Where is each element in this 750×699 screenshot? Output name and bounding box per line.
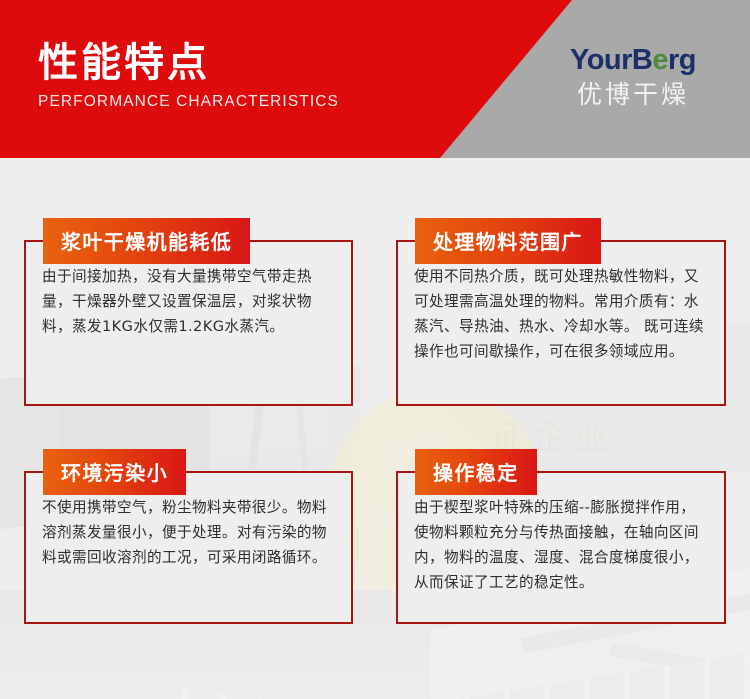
feature-card-1-title: 浆叶干燥机能耗低 [43, 218, 250, 264]
logo-text-b: B [632, 44, 652, 76]
feature-card-3-title: 环境污染小 [43, 449, 186, 495]
feature-card-4-title: 操作稳定 [415, 449, 537, 495]
feature-card-2: 使用不同热介质，既可处理热敏性物料，又可处理需高温处理的物料。常用介质有：水蒸汽… [396, 240, 726, 406]
header-title-block: 性能特点 PERFORMANCE CHARACTERISTICS [38, 42, 339, 111]
feature-card-2-title: 处理物料范围广 [415, 218, 601, 264]
page-title-cn: 性能特点 [38, 42, 339, 84]
page-title-en: PERFORMANCE CHARACTERISTICS [38, 93, 339, 111]
logo-text-your: Your [570, 44, 632, 76]
logo-wordmark: YourBerg [548, 46, 718, 75]
brand-logo: YourBerg 优博干燥 [548, 46, 718, 109]
logo-text-rg: rg [668, 44, 696, 76]
performance-characteristics-page: 性能特点 PERFORMANCE CHARACTERISTICS YourBer… [0, 0, 750, 699]
logo-text-e: e [652, 44, 668, 76]
logo-text-cn: 优博干燥 [548, 81, 718, 109]
page-header: 性能特点 PERFORMANCE CHARACTERISTICS YourBer… [0, 0, 750, 158]
feature-card-1: 由于间接加热，没有大量携带空气带走热量，干燥器外壁又设置保温层，对浆状物料，蒸发… [24, 240, 353, 406]
